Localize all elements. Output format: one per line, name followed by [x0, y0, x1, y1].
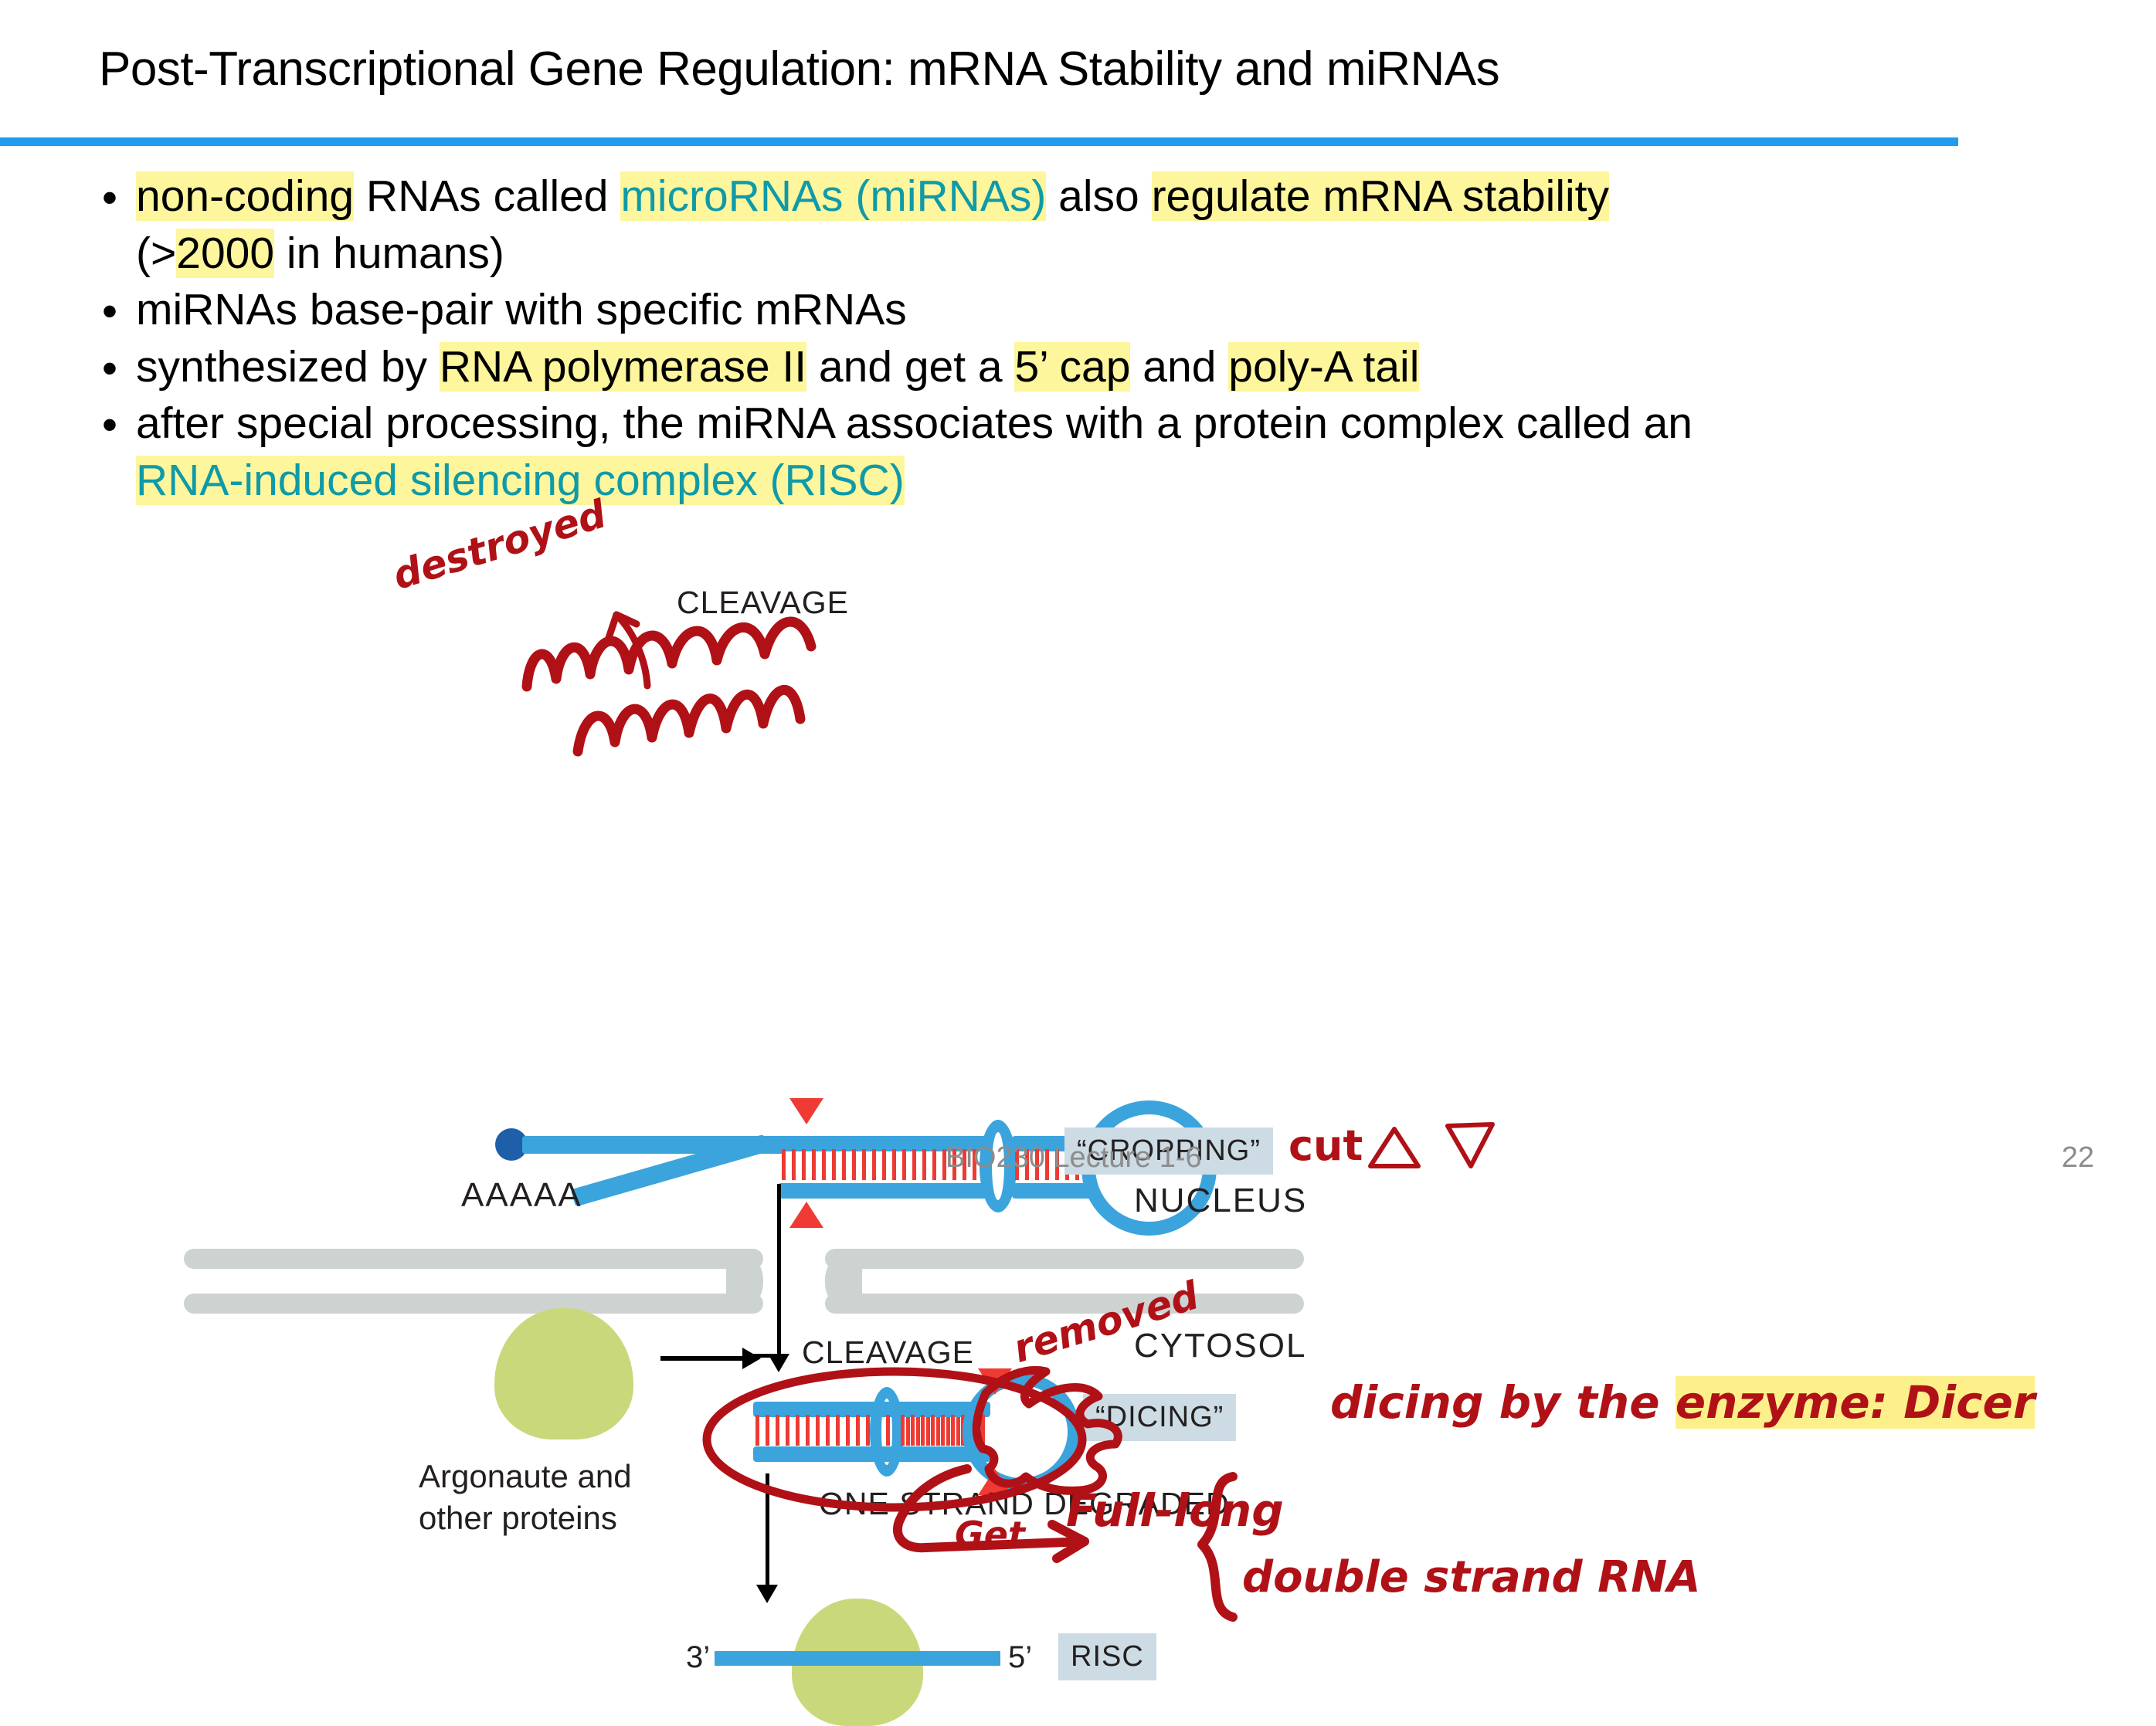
label-cytosol: CYTOSOL: [1134, 1327, 1306, 1365]
list-item: • after special processing, the miRNA as…: [91, 395, 2100, 509]
bullet-2-text: miRNAs base-pair with specific mRNAs: [136, 285, 907, 334]
footer-lecture-label: BIO230 Lecture 1-6: [946, 1141, 1202, 1175]
label-dicing-box: “DICING”: [1083, 1394, 1236, 1441]
argonaute-join-elbow: [744, 1354, 770, 1358]
bullet-1-text-d: in humans): [274, 229, 504, 278]
label-argonaute-line1: Argonaute and: [419, 1458, 632, 1495]
page-title: Post-Transcriptional Gene Regulation: mR…: [99, 43, 1968, 96]
label-cleavage-bottom: CLEAVAGE: [802, 1334, 974, 1371]
annotation-double-strand-rna: double strand RNA: [1242, 1552, 1700, 1602]
cleavage-arrowhead-top: [789, 1098, 823, 1124]
annotation-destroyed-arrow: [533, 587, 657, 687]
bullet-3-text-b: and get a: [806, 342, 1014, 392]
annotation-dicing-by-enzyme: dicing by the enzyme: Dicer: [1330, 1376, 2035, 1429]
nuclear-envelope-left-inner: [184, 1294, 763, 1314]
label-five-prime: 5’: [1008, 1640, 1032, 1675]
bullet-3-cap: 5’ cap: [1014, 342, 1130, 392]
bullet-1-text-c: (>: [136, 229, 176, 278]
list-item: • miRNAs base-pair with specific mRNAs: [91, 282, 2100, 339]
annotation-full-long: Full-long: [1066, 1484, 1284, 1537]
argonaute-protein-blob: [494, 1308, 633, 1439]
label-polya-tail: AAAAA: [461, 1176, 582, 1215]
footer-page-number: 22: [2062, 1141, 2094, 1175]
annotation-dicing-prefix: dicing by the: [1330, 1376, 1676, 1429]
annotation-get: Get: [955, 1514, 1025, 1555]
risc-mirna-strand: [715, 1651, 1000, 1666]
bullet-1-micrornas: microRNAs (miRNAs): [620, 171, 1046, 221]
title-underline-rule: [0, 137, 1958, 146]
label-nucleus: NUCLEUS: [1134, 1182, 1307, 1220]
bullet-marker: •: [102, 283, 117, 341]
bullet-1-text-b: also: [1046, 171, 1151, 221]
label-risc-box: RISC: [1058, 1633, 1156, 1680]
bullet-marker: •: [102, 341, 117, 398]
bullet-1-count: 2000: [176, 229, 274, 278]
nuclear-envelope-right-outer: [825, 1249, 1304, 1269]
nuclear-export-arrow: [777, 1184, 781, 1355]
label-three-prime: 3’: [686, 1640, 710, 1675]
bullet-1-regulate: regulate mRNA stability: [1152, 171, 1609, 221]
annotation-enzyme-dicer: enzyme: Dicer: [1676, 1376, 2035, 1429]
list-item: • non-coding RNAs called microRNAs (miRN…: [91, 168, 2100, 282]
bullet-list: • non-coding RNAs called microRNAs (miRN…: [91, 168, 2100, 509]
annotation-cut-triangle-up: [1367, 1124, 1421, 1171]
bullet-1-text-a: RNAs called: [354, 171, 620, 221]
annotation-cut: cut: [1289, 1121, 1363, 1170]
bullet-marker: •: [102, 397, 117, 454]
list-item: • synthesized by RNA polymerase II and g…: [91, 339, 2100, 396]
one-strand-degraded-arrow: [766, 1473, 769, 1586]
bullet-3-text-c: and: [1130, 342, 1228, 392]
bullet-3-rnapol: RNA polymerase II: [440, 342, 806, 392]
nuclear-envelope-left-outer: [184, 1249, 763, 1269]
argonaute-join-arrow: [660, 1356, 744, 1361]
label-cleavage-top: CLEAVAGE: [677, 585, 849, 621]
annotation-cut-triangle-down: [1443, 1121, 1497, 1169]
premirna-internal-bulge: [870, 1387, 904, 1477]
bullet-marker: •: [102, 170, 117, 227]
bullet-4-text-a: after special processing, the miRNA asso…: [136, 398, 1693, 448]
mirna-processing-diagram: CLEAVAGE AAAAA “CROPPING” NUCLEUS CYTOSO…: [0, 510, 2156, 1158]
hairpin-stem-bottom: [778, 1183, 990, 1199]
annotation-degradation-squiggle-bottom: [573, 660, 828, 753]
bullet-3-text-a: synthesized by: [136, 342, 440, 392]
bullet-3-polya: poly-A tail: [1228, 342, 1419, 392]
cleavage-arrowhead-bottom: [789, 1202, 823, 1228]
dicing-arrowhead-top: [978, 1368, 1012, 1395]
slide-canvas: Post-Transcriptional Gene Regulation: mR…: [0, 0, 2156, 1195]
bullet-4-risc: RNA-induced silencing complex (RISC): [136, 456, 905, 505]
label-argonaute-line2: other proteins: [419, 1500, 617, 1537]
bullet-1-noncoding: non-coding: [136, 171, 354, 221]
